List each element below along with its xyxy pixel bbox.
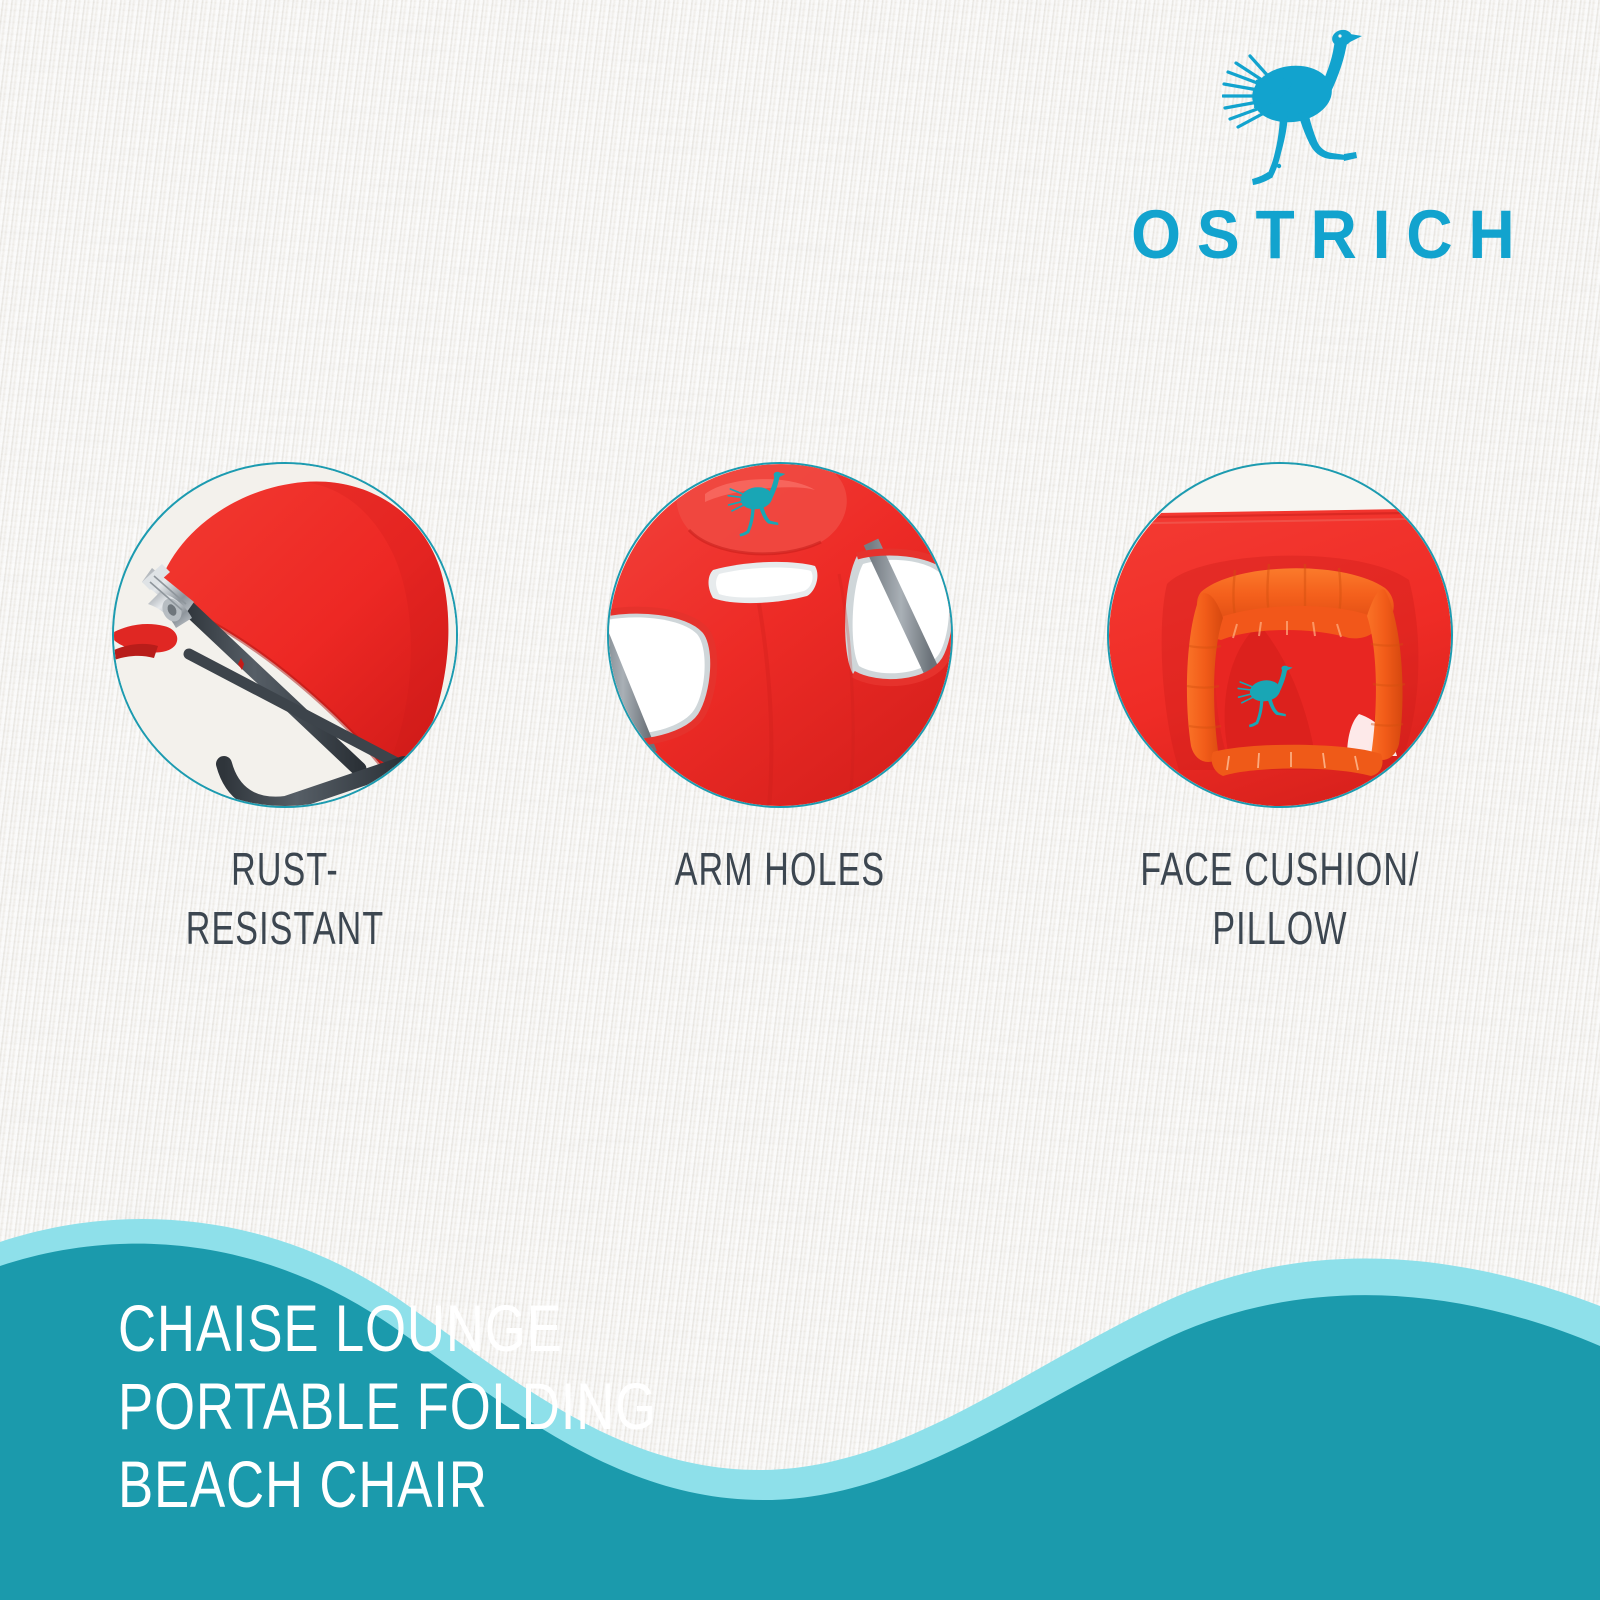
feature-caption-face-cushion: FACE CUSHION/ PILLOW [1117,840,1443,958]
feature-item-arm-holes: ARM HOLES [560,462,1000,899]
feature-item-face-cushion: FACE CUSHION/ PILLOW [1060,462,1500,958]
ostrich-silhouette-icon [1222,22,1362,190]
feature-image-face-cushion [1107,462,1453,808]
feature-caption-rust-resistant: RUST- RESISTANT [122,840,448,958]
feature-highlights: RUST- RESISTANT [0,462,1600,1022]
feature-item-rust-resistant: RUST- RESISTANT [65,462,505,958]
brand-logo: OSTRICH [1102,22,1482,269]
brand-wordmark: OSTRICH [1115,200,1468,269]
feature-caption-arm-holes: ARM HOLES [617,840,943,899]
product-title: CHAISE LOUNGE PORTABLE FOLDING BEACH CHA… [118,1290,657,1524]
product-feature-poster: OSTRICH [0,0,1600,1600]
feature-image-rust-resistant [112,462,458,808]
feature-image-arm-holes [607,462,953,808]
